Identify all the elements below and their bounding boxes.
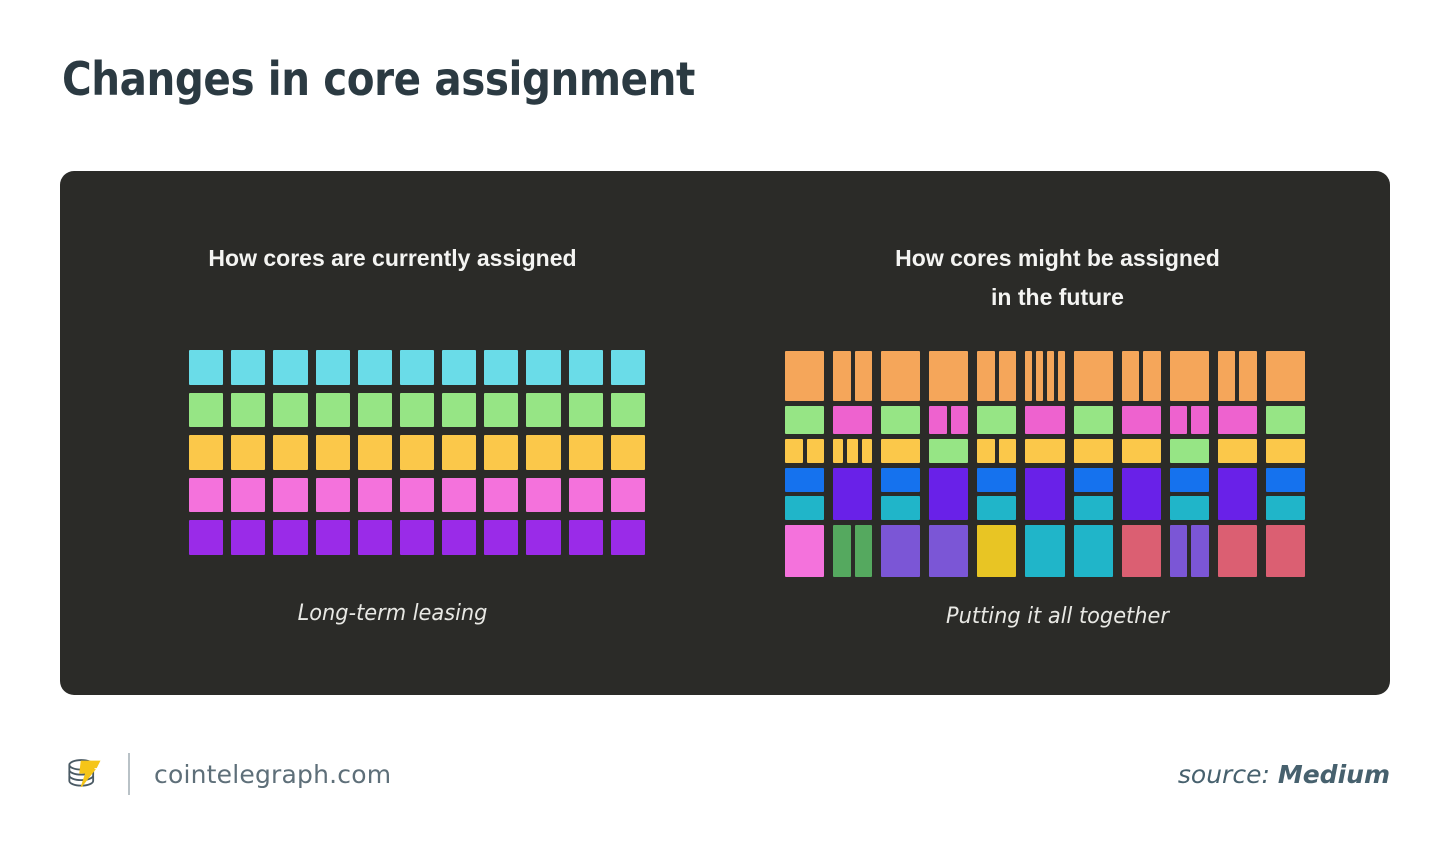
core-segment [1122, 468, 1161, 520]
core-cell [189, 393, 223, 428]
core-cell [358, 478, 392, 513]
core-cell [977, 406, 1016, 434]
source-label: source: [1178, 760, 1278, 789]
core-segment [1025, 406, 1064, 434]
core-segment [1074, 351, 1113, 401]
core-segment [862, 439, 872, 463]
core-cell [1266, 406, 1305, 434]
core-cell [526, 350, 560, 385]
footer: cointelegraph.com source: Medium [0, 740, 1450, 820]
core-cell [358, 393, 392, 428]
core-segment [1239, 351, 1257, 401]
future-caption: Putting it all together [742, 604, 1374, 629]
core-cell [484, 350, 518, 385]
core-cell [484, 435, 518, 470]
core-cell [785, 525, 824, 577]
future-core-grid [785, 351, 1305, 556]
core-cell [484, 393, 518, 428]
core-cell [1025, 468, 1064, 520]
core-cell [1122, 351, 1161, 401]
core-segment [1122, 351, 1140, 401]
core-cell [881, 525, 920, 577]
core-cell [1074, 439, 1113, 463]
core-segment [833, 439, 843, 463]
core-segment [1122, 439, 1161, 463]
core-cell [526, 478, 560, 513]
core-cell [442, 435, 476, 470]
core-cell [1025, 525, 1064, 577]
core-cell [785, 351, 824, 401]
core-cell [1218, 468, 1257, 520]
core-cell [929, 406, 968, 434]
core-segment [833, 351, 851, 401]
core-cell [1074, 406, 1113, 434]
core-segment [1143, 351, 1161, 401]
core-segment [833, 525, 851, 577]
core-cell [231, 435, 265, 470]
core-segment [977, 406, 1016, 434]
core-cell [316, 520, 350, 555]
source-attribution: source: Medium [1178, 760, 1390, 789]
core-segment [1058, 351, 1065, 401]
core-cell [881, 468, 920, 520]
core-cell [189, 520, 223, 555]
core-segment [1170, 468, 1209, 492]
core-segment [1218, 406, 1257, 434]
core-segment [1036, 351, 1043, 401]
core-segment [1218, 439, 1257, 463]
core-cell [1170, 439, 1209, 463]
core-cell [977, 439, 1016, 463]
core-cell [273, 393, 307, 428]
core-cell [1170, 351, 1209, 401]
core-cell [231, 393, 265, 428]
core-cell [316, 435, 350, 470]
panel-half-future: How cores might be assigned in the futur… [725, 171, 1390, 695]
core-segment [1266, 406, 1305, 434]
core-cell [231, 478, 265, 513]
core-segment [977, 351, 995, 401]
core-segment [785, 439, 803, 463]
core-cell [484, 478, 518, 513]
core-segment [999, 351, 1017, 401]
core-cell [881, 406, 920, 434]
core-cell [1266, 525, 1305, 577]
core-cell [400, 350, 434, 385]
core-segment [929, 351, 968, 401]
current-core-grid [189, 350, 645, 555]
core-cell [611, 435, 645, 470]
core-segment [1218, 468, 1257, 520]
core-cell [316, 393, 350, 428]
core-cell [1218, 406, 1257, 434]
core-segment [951, 406, 969, 434]
core-segment [855, 351, 873, 401]
core-cell [1170, 525, 1209, 577]
core-cell [833, 525, 872, 577]
future-heading: How cores might be assigned in the futur… [725, 239, 1390, 317]
core-cell [400, 435, 434, 470]
core-cell [1266, 351, 1305, 401]
core-cell [977, 468, 1016, 520]
core-cell [881, 439, 920, 463]
core-segment [785, 468, 824, 492]
core-cell [977, 351, 1016, 401]
core-cell [929, 439, 968, 463]
core-segment [1191, 525, 1209, 577]
core-cell [442, 393, 476, 428]
core-segment [833, 406, 872, 434]
core-segment [1170, 439, 1209, 463]
core-cell [1218, 525, 1257, 577]
core-segment [1122, 525, 1161, 577]
core-segment [881, 439, 920, 463]
core-segment [855, 525, 873, 577]
core-cell [1122, 525, 1161, 577]
panel-half-current: How cores are currently assigned Long-te… [60, 171, 725, 695]
core-segment [1074, 439, 1113, 463]
core-segment [1266, 351, 1305, 401]
core-cell [569, 435, 603, 470]
core-cell [785, 406, 824, 434]
core-segment [881, 525, 920, 577]
core-cell [611, 478, 645, 513]
core-cell [526, 520, 560, 555]
core-segment [807, 439, 825, 463]
core-segment [881, 496, 920, 520]
core-segment [977, 468, 1016, 492]
core-segment [1170, 406, 1188, 434]
core-cell [1074, 468, 1113, 520]
core-cell [929, 351, 968, 401]
core-cell [785, 439, 824, 463]
core-cell [1218, 439, 1257, 463]
core-cell [400, 520, 434, 555]
brand-url[interactable]: cointelegraph.com [154, 760, 391, 789]
core-cell [1074, 525, 1113, 577]
core-segment [1047, 351, 1054, 401]
core-cell [833, 468, 872, 520]
core-segment [929, 439, 968, 463]
footer-divider [128, 753, 130, 795]
core-segment [785, 525, 824, 577]
core-segment [1218, 525, 1257, 577]
core-cell [189, 350, 223, 385]
core-cell [881, 351, 920, 401]
core-segment [1170, 525, 1188, 577]
core-cell [611, 393, 645, 428]
core-segment [1191, 406, 1209, 434]
core-cell [1266, 468, 1305, 520]
core-cell [273, 520, 307, 555]
core-segment [1025, 439, 1064, 463]
core-cell [611, 350, 645, 385]
core-cell [1074, 351, 1113, 401]
core-cell [1170, 406, 1209, 434]
core-segment [929, 468, 968, 520]
core-segment [1074, 468, 1113, 492]
core-cell [231, 350, 265, 385]
core-cell [484, 520, 518, 555]
core-cell [1218, 351, 1257, 401]
core-cell [273, 350, 307, 385]
core-cell [442, 350, 476, 385]
core-segment [1218, 351, 1236, 401]
core-segment [881, 468, 920, 492]
core-segment [1025, 468, 1064, 520]
core-segment [785, 496, 824, 520]
core-cell [1266, 439, 1305, 463]
core-cell [977, 525, 1016, 577]
core-segment [977, 525, 1016, 577]
core-segment [929, 525, 968, 577]
core-cell [1122, 406, 1161, 434]
core-segment [1122, 406, 1161, 434]
core-segment [1266, 468, 1305, 492]
core-cell [611, 520, 645, 555]
core-cell [358, 350, 392, 385]
core-segment [1266, 496, 1305, 520]
core-cell [442, 478, 476, 513]
core-segment [999, 439, 1017, 463]
core-cell [1122, 468, 1161, 520]
core-segment [1170, 496, 1209, 520]
source-name: Medium [1278, 760, 1390, 789]
core-cell [1122, 439, 1161, 463]
core-cell [316, 478, 350, 513]
core-cell [189, 435, 223, 470]
core-segment [1266, 439, 1305, 463]
infographic-page: Changes in core assignment How cores are… [0, 0, 1450, 858]
core-segment [929, 406, 947, 434]
core-cell [1025, 351, 1064, 401]
core-cell [358, 435, 392, 470]
core-cell [442, 520, 476, 555]
core-segment [1074, 406, 1113, 434]
core-cell [833, 439, 872, 463]
core-cell [929, 525, 968, 577]
current-caption: Long-term leasing [77, 601, 709, 626]
core-segment [977, 439, 995, 463]
core-segment [1074, 525, 1113, 577]
brand-block[interactable]: cointelegraph.com [62, 752, 391, 796]
core-cell [1025, 406, 1064, 434]
future-heading-line1: How cores might be assigned [725, 239, 1390, 278]
core-segment [977, 496, 1016, 520]
core-cell [569, 520, 603, 555]
core-cell [1025, 439, 1064, 463]
core-cell [316, 350, 350, 385]
core-cell [569, 350, 603, 385]
cointelegraph-coins-logo-icon [62, 752, 106, 796]
core-cell [833, 351, 872, 401]
core-cell [569, 478, 603, 513]
core-segment [1074, 496, 1113, 520]
core-segment [881, 406, 920, 434]
core-cell [358, 520, 392, 555]
core-cell [1170, 468, 1209, 520]
diagram-panel: How cores are currently assigned Long-te… [60, 171, 1390, 695]
future-heading-line2: in the future [725, 278, 1390, 317]
core-segment [1025, 525, 1064, 577]
core-cell [231, 520, 265, 555]
current-heading: How cores are currently assigned [60, 239, 725, 278]
core-segment [1025, 351, 1032, 401]
core-cell [526, 435, 560, 470]
core-cell [569, 393, 603, 428]
core-cell [833, 406, 872, 434]
core-segment [1170, 351, 1209, 401]
core-cell [400, 478, 434, 513]
core-cell [189, 478, 223, 513]
core-cell [526, 393, 560, 428]
core-cell [785, 468, 824, 520]
core-segment [847, 439, 857, 463]
core-cell [400, 393, 434, 428]
core-segment [1266, 525, 1305, 577]
core-cell [273, 478, 307, 513]
core-cell [929, 468, 968, 520]
core-segment [881, 351, 920, 401]
core-segment [785, 351, 824, 401]
page-title: Changes in core assignment [62, 52, 695, 106]
core-cell [273, 435, 307, 470]
core-segment [833, 468, 872, 520]
core-segment [785, 406, 824, 434]
